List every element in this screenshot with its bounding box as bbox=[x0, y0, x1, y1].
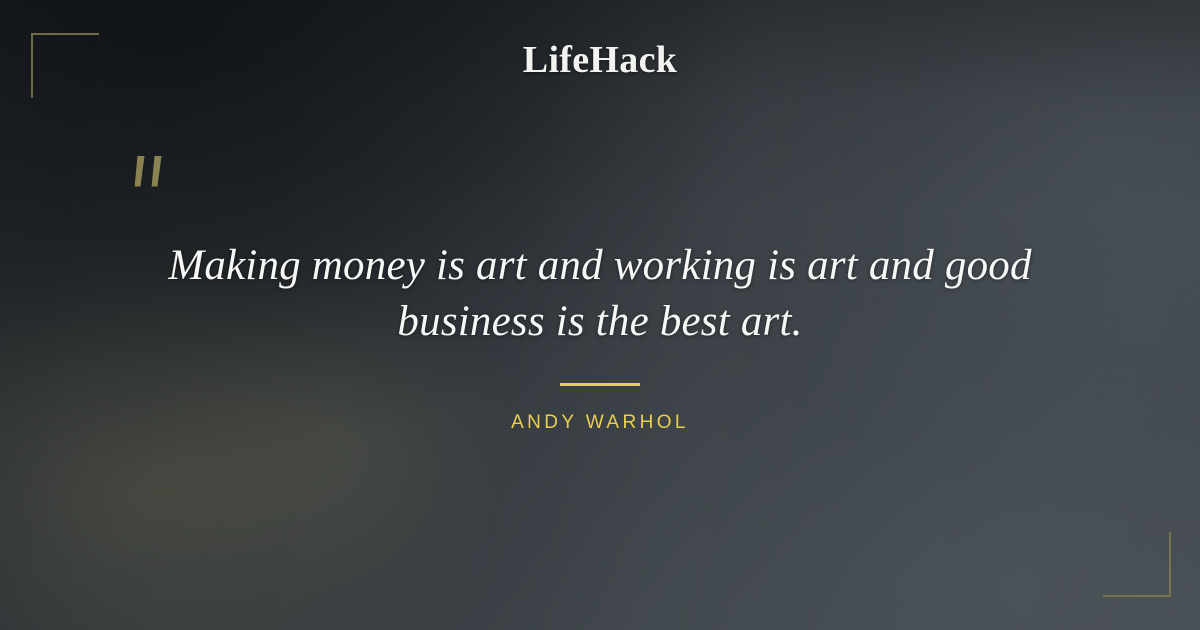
attribution-divider bbox=[560, 383, 640, 386]
quote-text: Making money is art and working is art a… bbox=[100, 238, 1100, 350]
corner-bracket-bottom-right-icon bbox=[1103, 532, 1171, 597]
quote-card: LifeHack Making money is art and working… bbox=[0, 0, 1200, 630]
quotation-mark-icon bbox=[128, 150, 174, 210]
quote-author: ANDY WARHOL bbox=[0, 412, 1200, 434]
quote-block: Making money is art and working is art a… bbox=[100, 238, 1100, 350]
brand-logo: LifeHack bbox=[0, 38, 1200, 82]
